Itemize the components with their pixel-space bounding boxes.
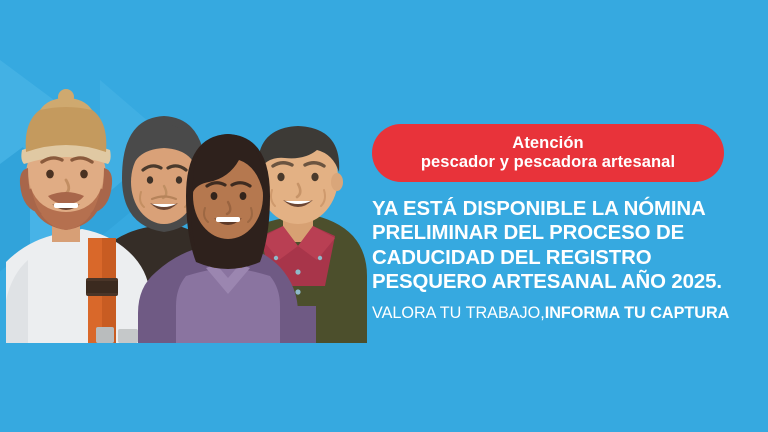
promotional-banner: Atención pescador y pescadora artesanal …: [0, 0, 768, 432]
figure-fisherman-beanie: [6, 89, 150, 343]
badge-title: Atención: [512, 134, 583, 153]
headline-line-1: YA ESTÁ DISPONIBLE LA NÓMINA: [372, 197, 764, 221]
badge-subtitle: pescador y pescadora artesanal: [421, 153, 675, 172]
fishers-illustration: [0, 0, 372, 343]
tagline-regular: VALORA TU TRABAJO,: [372, 304, 545, 322]
headline-line-2: PRELIMINAR DEL PROCESO DE: [372, 221, 764, 245]
tagline-bold: INFORMA TU CAPTURA: [545, 304, 730, 322]
headline-line-4: PESQUERO ARTESANAL AÑO 2025.: [372, 270, 764, 294]
content-column: Atención pescador y pescadora artesanal …: [372, 0, 768, 432]
headline: YA ESTÁ DISPONIBLE LA NÓMINA PRELIMINAR …: [372, 197, 764, 294]
headline-line-3: CADUCIDAD DEL REGISTRO: [372, 246, 764, 270]
bottom-blue-band: [0, 343, 372, 432]
tagline: VALORA TU TRABAJO,INFORMA TU CAPTURA: [372, 303, 764, 323]
attention-badge: Atención pescador y pescadora artesanal: [372, 124, 724, 182]
